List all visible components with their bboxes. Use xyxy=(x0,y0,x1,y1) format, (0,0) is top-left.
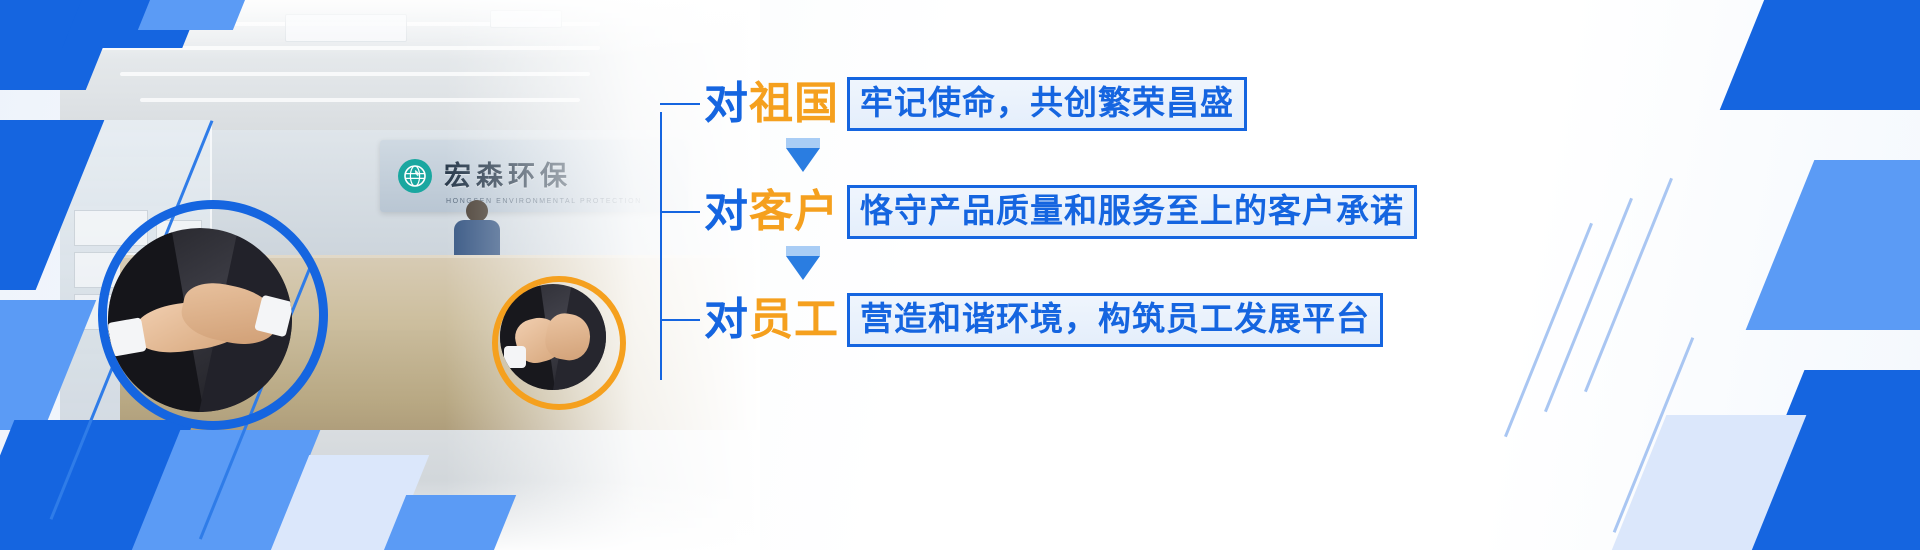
slogan-prefix-1: 对 xyxy=(704,79,749,128)
arrow-gap-1 xyxy=(660,132,1417,184)
slogan-title-2: 对客户 xyxy=(704,190,839,234)
slogan-target-1: 祖国 xyxy=(749,79,839,128)
arrow-gap-2 xyxy=(660,240,1417,292)
row-stem-1 xyxy=(660,103,700,105)
slogan-rows: 对祖国 牢记使命，共创繁荣昌盛 对客户 恪守产品质量和服务至上的客户承诺 xyxy=(660,76,1417,348)
slogan-area: 对祖国 牢记使命，共创繁荣昌盛 对客户 恪守产品质量和服务至上的客户承诺 xyxy=(660,0,1920,550)
slogan-row-1: 对祖国 牢记使命，共创繁荣昌盛 xyxy=(660,76,1417,132)
slogan-statement-2: 恪守产品质量和服务至上的客户承诺 xyxy=(847,185,1417,239)
company-culture-banner: 宏森环保 HONGSEN ENVIRONMENTAL PROTECTION xyxy=(0,0,1920,550)
slogan-title-1: 对祖国 xyxy=(704,82,839,126)
slogan-prefix-2: 对 xyxy=(704,187,749,236)
slogan-target-3: 员工 xyxy=(749,295,839,344)
handshake-circle-photo xyxy=(108,228,292,412)
slogan-target-2: 客户 xyxy=(749,187,839,236)
slogan-title-3: 对员工 xyxy=(704,298,839,342)
slogan-prefix-3: 对 xyxy=(704,295,749,344)
row-stem-3 xyxy=(660,319,700,321)
slogan-statement-3: 营造和谐环境，构筑员工发展平台 xyxy=(847,293,1383,347)
row-stem-2 xyxy=(660,211,700,213)
slogan-row-2: 对客户 恪守产品质量和服务至上的客户承诺 xyxy=(660,184,1417,240)
slogan-row-3: 对员工 营造和谐环境，构筑员工发展平台 xyxy=(660,292,1417,348)
applause-circle-photo xyxy=(500,284,606,390)
slogan-statement-1: 牢记使命，共创繁荣昌盛 xyxy=(847,77,1247,131)
